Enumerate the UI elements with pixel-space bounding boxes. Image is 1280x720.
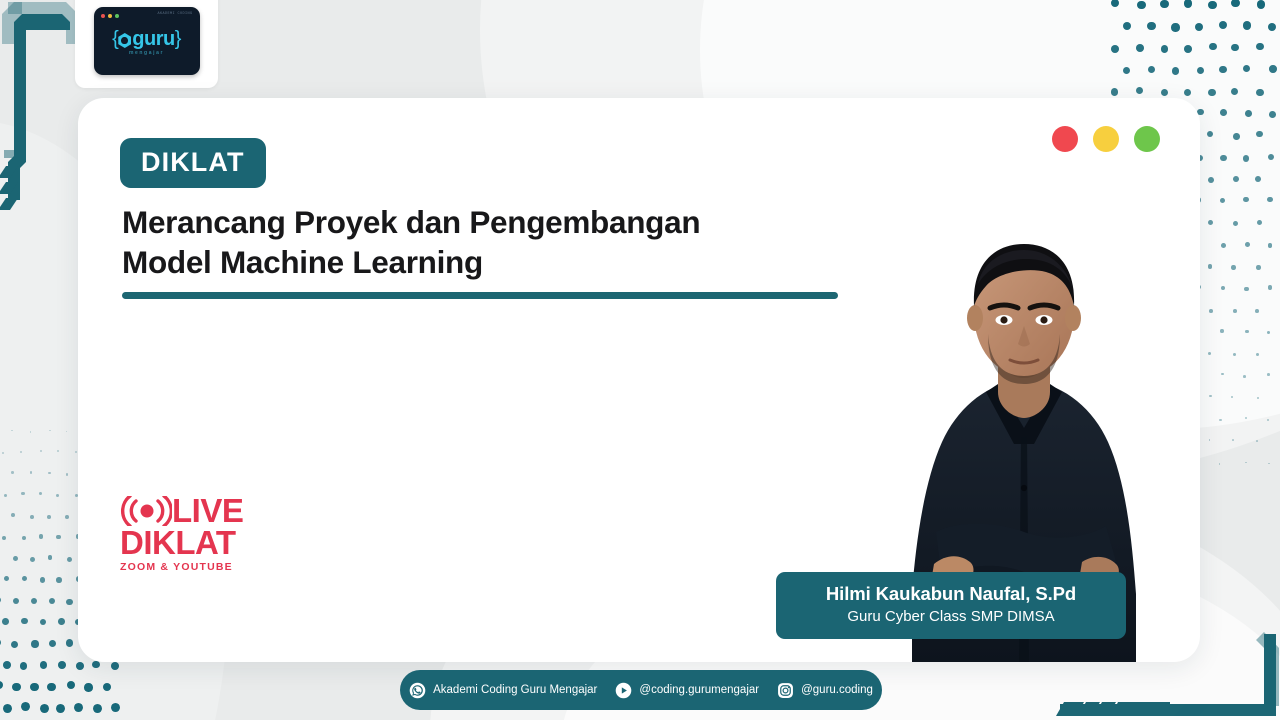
slide-canvas: AKADEMI CODING {guru} mengajar DIKLAT Me… <box>0 0 1280 720</box>
window-dot-red[interactable] <box>1052 126 1078 152</box>
title-underline <box>122 292 838 299</box>
social-label-whatsapp: Akademi Coding Guru Mengajar <box>433 684 597 696</box>
broadcast-wave-icon <box>120 496 172 526</box>
social-item-instagram[interactable]: @guru.coding <box>777 682 873 699</box>
social-label-youtube: @coding.gurumengajar <box>639 684 759 696</box>
social-links-bar: Akademi Coding Guru Mengajar @coding.gur… <box>400 670 882 710</box>
code-window-stamp: AKADEMI CODING <box>157 12 192 16</box>
youtube-icon <box>615 682 632 699</box>
speaker-name: Hilmi Kaukabun Naufal, S.Pd <box>788 583 1114 604</box>
diklat-badge: DIKLAT <box>120 138 266 188</box>
logo-brace-open: { <box>112 28 118 50</box>
brand-logo-card: AKADEMI CODING {guru} mengajar <box>75 0 218 88</box>
title-line-2: Model Machine Learning <box>122 242 882 282</box>
live-diklat-label: DIKLAT <box>120 527 268 558</box>
logo-name: guru <box>132 28 174 50</box>
code-window-dots <box>101 14 119 18</box>
title-line-1: Merancang Proyek dan Pengembangan <box>122 202 882 242</box>
live-platforms-label: ZOOM & YOUTUBE <box>120 561 268 573</box>
instagram-icon <box>777 682 794 699</box>
social-item-youtube[interactable]: @coding.gurumengajar <box>615 682 759 699</box>
main-content-card: DIKLAT Merancang Proyek dan Pengembangan… <box>78 98 1200 662</box>
logo-wordmark: {guru} <box>94 29 200 49</box>
page-title: Merancang Proyek dan Pengembangan Model … <box>122 202 882 283</box>
window-control-dots <box>1052 126 1160 152</box>
logo-subtext: mengajar <box>94 50 200 56</box>
social-label-instagram: @guru.coding <box>801 684 873 696</box>
logo-hexagon-icon <box>118 33 131 48</box>
window-dot-yellow[interactable] <box>1093 126 1119 152</box>
live-label: LIVE <box>172 496 243 526</box>
live-diklat-logo: LIVE DIKLAT ZOOM & YOUTUBE <box>120 496 268 576</box>
speaker-role: Guru Cyber Class SMP DIMSA <box>788 607 1114 627</box>
window-dot-green[interactable] <box>1134 126 1160 152</box>
speaker-nameplate: Hilmi Kaukabun Naufal, S.Pd Guru Cyber C… <box>776 572 1126 639</box>
social-item-whatsapp[interactable]: Akademi Coding Guru Mengajar <box>409 682 597 699</box>
whatsapp-icon <box>409 682 426 699</box>
code-window-logo: AKADEMI CODING {guru} mengajar <box>94 7 200 75</box>
logo-brace-close: } <box>175 28 181 50</box>
